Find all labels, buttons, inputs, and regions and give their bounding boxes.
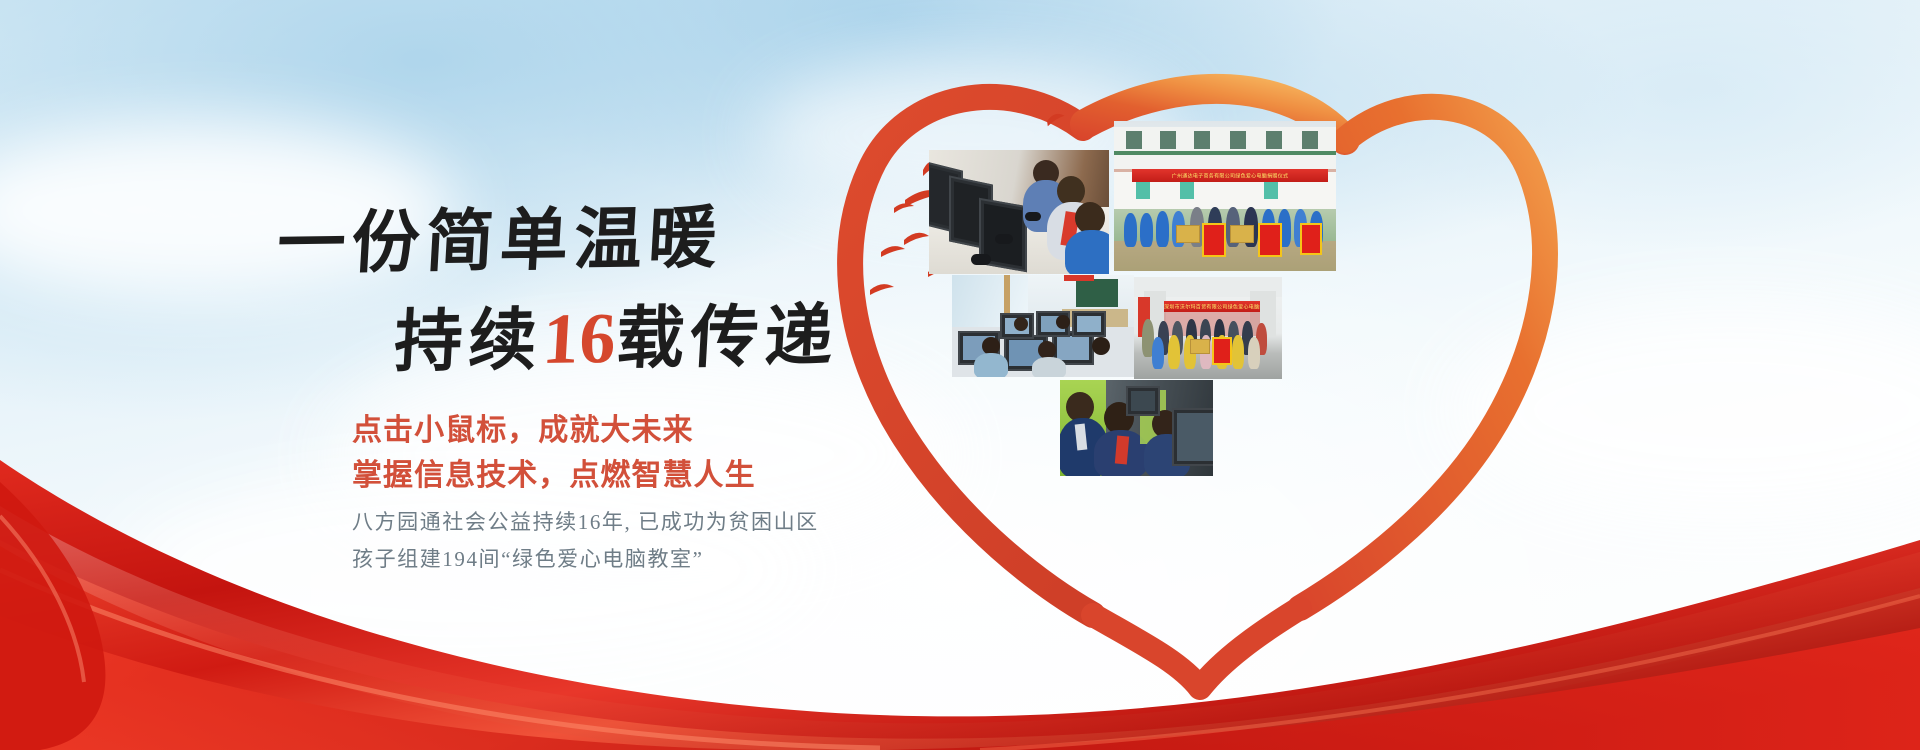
- promo-banner: 广州通达电子商务有限公司绿色爱心电脑捐赠仪式: [0, 0, 1920, 750]
- headline-years-number: 16: [541, 297, 619, 381]
- ribbon-icon: [0, 420, 1920, 750]
- photo-donation-ceremony-indoor: 深圳市沃尔玛百货有限公司绿色爱心电脑捐赠仪式: [1134, 277, 1282, 379]
- headline-line-2-suffix: 载传递: [614, 298, 841, 377]
- ceremony-banner: 广州通达电子商务有限公司绿色爱心电脑捐赠仪式: [1132, 169, 1328, 182]
- ceremony-banner-text: 广州通达电子商务有限公司绿色爱心电脑捐赠仪式: [1132, 172, 1328, 179]
- headline-line-1: 一份简单温暖: [275, 182, 726, 287]
- headline-line-2: 持续16载传递: [392, 280, 842, 385]
- photo-donation-ceremony-school-yard: 广州通达电子商务有限公司绿色爱心电脑捐赠仪式: [1114, 121, 1336, 271]
- headline-line-2-prefix: 持续: [392, 302, 545, 380]
- ceremony-banner: 深圳市沃尔玛百货有限公司绿色爱心电脑捐赠仪式: [1164, 301, 1260, 312]
- ceremony-banner-text: 深圳市沃尔玛百货有限公司绿色爱心电脑捐赠仪式: [1164, 303, 1260, 310]
